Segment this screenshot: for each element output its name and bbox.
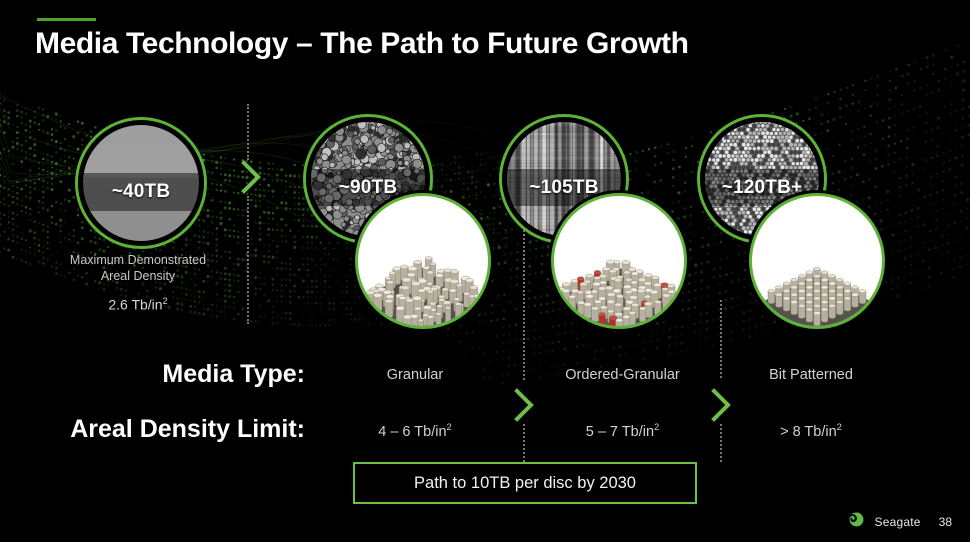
column-1-caption-line2: Areal Density — [38, 268, 238, 284]
row-label-media-type: Media Type: — [0, 360, 305, 389]
row-label-areal-density: Areal Density Limit: — [0, 415, 305, 444]
footer: Seagate 38 — [848, 511, 952, 533]
areal-density-cell-3-text: 5 – 7 Tb/in — [586, 424, 654, 440]
seagate-spiral-logo-icon — [848, 511, 865, 533]
areal-density-cell-4: > 8 Tb/in2 — [722, 421, 900, 440]
areal-density-cell-3-sup: 2 — [654, 421, 659, 432]
model-circle-2 — [355, 193, 491, 329]
areal-density-cell-4-text: > 8 Tb/in — [780, 424, 837, 440]
column-1-caption-line1: Maximum Demonstrated — [38, 252, 238, 268]
capacity-label-3: ~105TB — [529, 177, 598, 199]
media-type-cell-4: Bit Patterned — [722, 367, 900, 383]
capacity-label-2: ~90TB — [339, 177, 398, 199]
footer-page-number: 38 — [939, 515, 952, 529]
divider-1 — [247, 104, 249, 160]
callout-box: Path to 10TB per disc by 2030 — [353, 462, 697, 504]
column-1-caption-value: 2.6 Tb/in2 — [38, 296, 238, 313]
model-circle-3 — [551, 193, 687, 329]
column-1-caption: Maximum Demonstrated Areal Density — [38, 252, 238, 284]
chevron-right-icon-3 — [710, 388, 732, 422]
title-accent-rule — [37, 18, 96, 21]
areal-density-cell-2: 4 – 6 Tb/in2 — [330, 421, 500, 440]
capacity-label-4: ~120TB+ — [722, 177, 803, 199]
capacity-band-1: ~40TB — [78, 173, 204, 211]
page-title: Media Technology – The Path to Future Gr… — [35, 27, 689, 61]
capacity-circle-1: ~40TB — [75, 117, 207, 249]
chevron-right-icon-1 — [240, 160, 262, 194]
capacity-label-1: ~40TB — [112, 181, 171, 203]
model-circle-4 — [749, 193, 885, 329]
areal-density-cell-4-sup: 2 — [837, 421, 842, 432]
media-type-cell-2: Granular — [330, 367, 500, 383]
slide-root: Media Technology – The Path to Future Gr… — [0, 0, 970, 542]
areal-density-cell-2-sup: 2 — [447, 421, 452, 432]
media-type-cell-3: Ordered-Granular — [525, 367, 720, 383]
divider-1b — [247, 196, 249, 324]
chevron-right-icon-2 — [513, 388, 535, 422]
column-1-caption-value-sup: 2 — [163, 296, 168, 306]
callout-text: Path to 10TB per disc by 2030 — [414, 474, 636, 493]
areal-density-cell-2-text: 4 – 6 Tb/in — [378, 424, 446, 440]
footer-brand-label: Seagate — [875, 515, 921, 529]
areal-density-cell-3: 5 – 7 Tb/in2 — [525, 421, 720, 440]
column-1-caption-value-text: 2.6 Tb/in — [108, 297, 162, 313]
